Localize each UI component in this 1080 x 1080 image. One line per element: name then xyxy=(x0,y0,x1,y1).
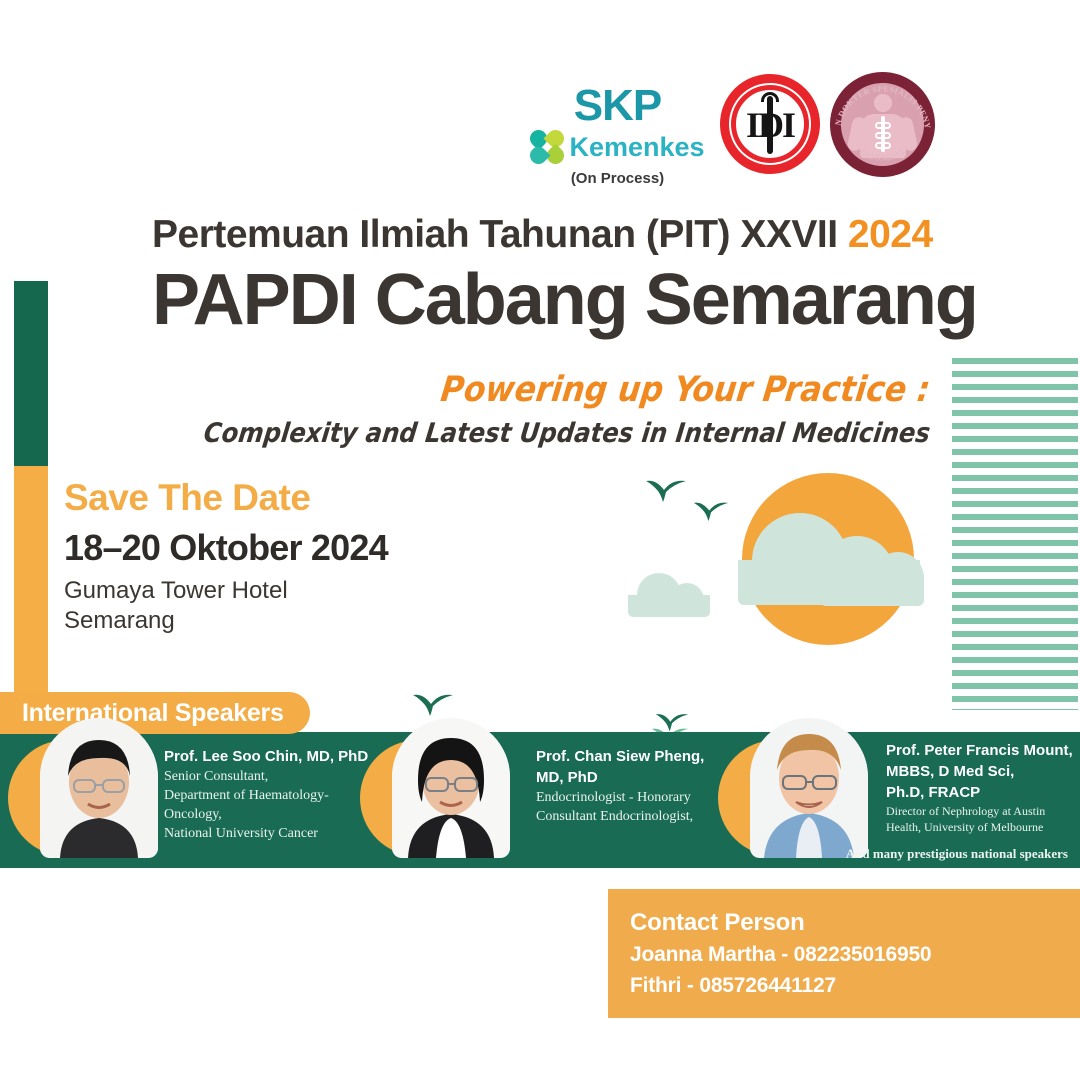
bird-icon xyxy=(654,712,690,733)
event-subtitle: Pertemuan Ilmiah Tahunan (PIT) XXVII 202… xyxy=(152,213,933,257)
event-dates: 18–20 Oktober 2024 xyxy=(64,525,404,570)
bird-icon xyxy=(692,500,730,523)
event-poster: SKP Kemenkes (On Process) IDI xyxy=(0,0,1080,1080)
speaker-info: Prof. Peter Francis Mount, MBBS, D Med S… xyxy=(886,740,1080,835)
speaker-role: Endocrinologist - Honorary xyxy=(536,788,731,807)
papdi-seal-icon: PERHIMPUNAN DOKTER SPESIALIS PENYAKIT DA… xyxy=(830,72,935,177)
speaker-role: National University Cancer xyxy=(164,824,379,843)
contact-person-1[interactable]: Joanna Martha - 082235016950 xyxy=(630,939,1080,970)
venue-line-1: Gumaya Tower Hotel xyxy=(64,576,404,606)
svg-text:INDONESIA: INDONESIA xyxy=(858,147,907,163)
contact-box: Contact Person Joanna Martha - 082235016… xyxy=(608,889,1080,1018)
page-title: PAPDI Cabang Semarang xyxy=(152,262,977,338)
speaker-role: Consultant Endocrinologist, xyxy=(536,807,731,826)
papdi-arc-top: PERHIMPUNAN DOKTER SPESIALIS PENYAKIT DA… xyxy=(830,72,932,129)
skp-subtitle: Kemenkes xyxy=(569,134,704,161)
speaker-name: Ph.D, FRACP xyxy=(886,782,1080,803)
skp-note: (On Process) xyxy=(530,170,705,187)
avatar xyxy=(392,718,510,858)
speaker-role: Department of Haematology- xyxy=(164,786,379,805)
event-year: 2024 xyxy=(848,213,933,256)
speaker-role: Health, University of Melbourne xyxy=(886,819,1080,835)
accent-bar-orange xyxy=(14,466,48,721)
avatar xyxy=(40,718,158,858)
idi-letters: IDI xyxy=(720,104,820,146)
speaker-name: Prof. Lee Soo Chin, MD, PhD xyxy=(164,746,379,767)
papdi-arc-bottom: INDONESIA xyxy=(858,147,907,163)
bird-icon xyxy=(411,692,455,718)
pit-text: Pertemuan Ilmiah Tahunan (PIT) XXVII xyxy=(152,213,848,256)
bird-icon xyxy=(644,478,688,504)
logo-row: SKP Kemenkes (On Process) IDI xyxy=(520,62,940,197)
save-the-date-heading: Save The Date xyxy=(64,477,404,519)
save-the-date-block: Save The Date 18–20 Oktober 2024 Gumaya … xyxy=(64,477,404,636)
skp-title: SKP xyxy=(530,84,705,128)
avatar xyxy=(750,718,868,858)
tagline-secondary: Complexity and Latest Updates in Interna… xyxy=(0,418,932,449)
idi-seal-icon: IDI xyxy=(720,74,820,174)
venue-line-2: Semarang xyxy=(64,606,404,636)
speaker-role: Senior Consultant, xyxy=(164,767,379,786)
contact-heading: Contact Person xyxy=(630,907,1080,939)
flower-icon xyxy=(530,130,564,164)
tagline-primary: Powering up Your Practice : xyxy=(0,370,932,410)
speaker-name: MBBS, D Med Sci, xyxy=(886,761,1080,782)
speaker-name: MD, PhD xyxy=(536,767,731,788)
stripe-pattern xyxy=(952,358,1078,710)
skp-kemenkes-logo: SKP Kemenkes (On Process) xyxy=(530,84,705,199)
speaker-info: Prof. Lee Soo Chin, MD, PhD Senior Consu… xyxy=(164,746,379,843)
speaker-name: Prof. Peter Francis Mount, xyxy=(886,740,1080,761)
speaker-info: Prof. Chan Siew Pheng, MD, PhD Endocrino… xyxy=(536,746,731,826)
svg-text:PERHIMPUNAN DOKTER SPESIALIS P: PERHIMPUNAN DOKTER SPESIALIS PENYAKIT DA… xyxy=(830,72,932,129)
speaker-role: Director of Nephrology at Austin xyxy=(886,803,1080,819)
speaker-name: Prof. Chan Siew Pheng, xyxy=(536,746,731,767)
contact-person-2[interactable]: Fithri - 085726441127 xyxy=(630,970,1080,1001)
speaker-role: Oncology, xyxy=(164,805,379,824)
national-speakers-note: And many prestigious national speakers xyxy=(0,846,1068,862)
